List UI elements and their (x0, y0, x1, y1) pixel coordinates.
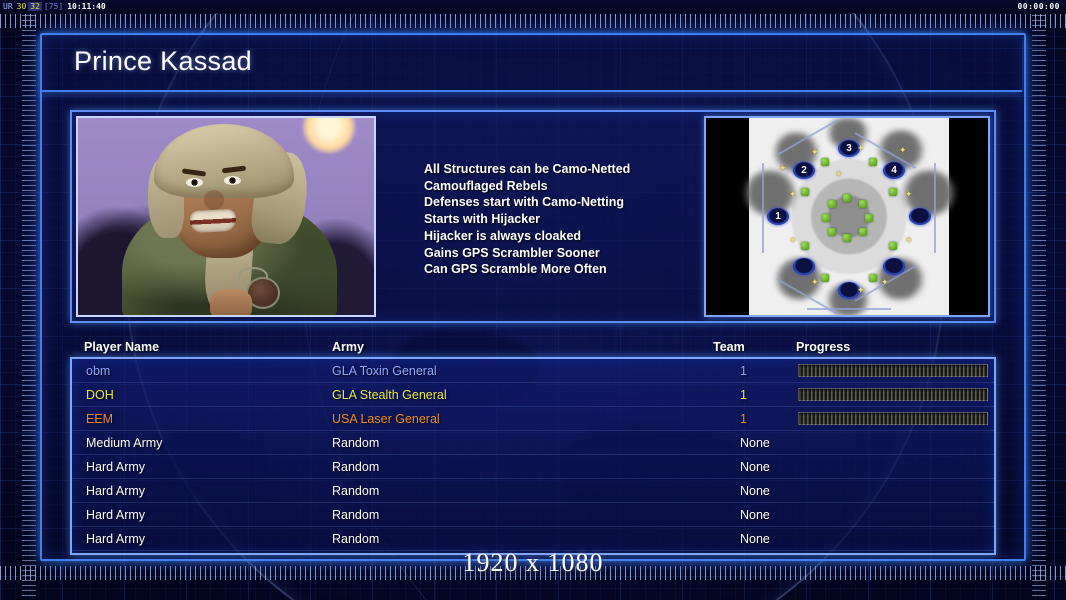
portrait-mouth (189, 209, 236, 233)
map-road (807, 308, 891, 310)
player-name: Hard Army (86, 455, 145, 479)
player-progress-bar (798, 388, 988, 401)
map-spawn-point-2[interactable]: 2 (793, 162, 815, 179)
bonus-item: Can GPS Scramble More Often (424, 261, 700, 278)
player-army[interactable]: Random (332, 431, 379, 455)
bonus-item: Gains GPS Scrambler Sooner (424, 245, 700, 262)
map-preview[interactable]: 1 2 3 4 ✦ ✦ ✦ ✦ (704, 116, 990, 317)
player-row[interactable]: DOHGLA Stealth General1 (72, 383, 994, 407)
map-supply (828, 228, 836, 236)
map-road (762, 163, 764, 253)
column-header-progress: Progress (796, 340, 850, 354)
map-spawn-point-8[interactable] (793, 258, 815, 275)
debug-prefix: UR (1, 2, 15, 11)
player-name: Hard Army (86, 503, 145, 527)
portrait-hand (210, 289, 252, 317)
bonus-item: Starts with Hijacker (424, 211, 700, 228)
player-army[interactable]: GLA Toxin General (332, 359, 437, 383)
player-team[interactable]: 1 (740, 383, 747, 407)
map-spawn-point-1[interactable]: 1 (767, 208, 789, 225)
player-progress-bar (798, 412, 988, 425)
player-team[interactable]: None (740, 455, 770, 479)
player-row[interactable]: Hard ArmyRandomNone (72, 503, 994, 527)
map-spawn-point-5[interactable] (909, 208, 931, 225)
column-header-army: Army (332, 340, 364, 354)
general-portrait (76, 116, 376, 317)
map-spawn-point-6[interactable] (883, 258, 905, 275)
player-team[interactable]: 1 (740, 359, 747, 383)
map-supply (843, 194, 851, 202)
column-header-player-name: Player Name (84, 340, 159, 354)
map-tech-building: ✦ (857, 286, 866, 295)
player-row[interactable]: Hard ArmyRandomNone (72, 479, 994, 503)
player-name: DOH (86, 383, 114, 407)
bonus-item: Defenses start with Camo-Netting (424, 194, 700, 211)
map-supply (869, 274, 877, 282)
player-army[interactable]: GLA Stealth General (332, 383, 447, 407)
map-image: 1 2 3 4 ✦ ✦ ✦ ✦ (749, 118, 949, 315)
map-tech-building: ✦ (779, 164, 788, 173)
debug-value-3: [75] (42, 2, 65, 11)
player-row[interactable]: Medium ArmyRandomNone (72, 431, 994, 455)
bonus-item: Hijacker is always cloaked (424, 228, 700, 245)
system-clock: 10:11:40 (65, 2, 108, 11)
player-row[interactable]: Hard ArmyRandomNone (72, 455, 994, 479)
map-supply (843, 234, 851, 242)
map-supply (821, 158, 829, 166)
player-progress-bar (798, 364, 988, 377)
map-tech-building: ✦ (835, 170, 844, 179)
debug-value-1: 30 (15, 2, 29, 11)
map-supply (801, 188, 809, 196)
game-timer: 00:00:00 (1017, 0, 1060, 13)
map-supply (889, 242, 897, 250)
player-team[interactable]: None (740, 431, 770, 455)
ruler-top (0, 14, 1066, 28)
map-supply (821, 274, 829, 282)
player-name: Hard Army (86, 479, 145, 503)
portrait-eye-right (224, 176, 241, 185)
map-supply (865, 214, 873, 222)
top-status-bar: UR3032[75]10:11:40 00:00:00 (0, 0, 1066, 13)
map-supply (822, 214, 830, 222)
player-army[interactable]: USA Laser General (332, 407, 440, 431)
debug-value-2: 32 (28, 2, 42, 11)
ruler-right (1032, 0, 1046, 600)
map-tech-building: ✦ (857, 144, 866, 153)
map-tech-building: ✦ (905, 190, 914, 199)
map-tech-building: ✦ (789, 190, 798, 199)
map-spawn-point-4[interactable]: 4 (883, 162, 905, 179)
map-tech-building: ✦ (811, 278, 820, 287)
player-row[interactable]: EEMUSA Laser General1 (72, 407, 994, 431)
player-name: Medium Army (86, 431, 162, 455)
debug-overlay: UR3032[75]10:11:40 (1, 0, 108, 13)
resolution-label: 1920 x 1080 (0, 548, 1066, 578)
bonus-item: Camouflaged Rebels (424, 178, 700, 195)
player-team[interactable]: 1 (740, 407, 747, 431)
map-tech-building: ✦ (789, 236, 798, 245)
map-supply (869, 158, 877, 166)
page-title: Prince Kassad (74, 46, 252, 77)
player-list-headers: Player Name Army Team Progress (70, 338, 996, 358)
portrait-eye-left (186, 178, 203, 187)
player-team[interactable]: None (740, 503, 770, 527)
map-tech-building: ✦ (899, 146, 908, 155)
map-supply (889, 188, 897, 196)
player-army[interactable]: Random (332, 479, 379, 503)
player-team[interactable]: None (740, 479, 770, 503)
game-lobby-screen: UR3032[75]10:11:40 00:00:00 Prince Kassa… (0, 0, 1066, 600)
map-supply (859, 200, 867, 208)
bonus-item: All Structures can be Camo-Netted (424, 161, 700, 178)
player-rows-container: obmGLA Toxin General1DOHGLA Stealth Gene… (72, 359, 994, 553)
ruler-left (22, 0, 36, 600)
map-tech-building: ✦ (811, 148, 820, 157)
player-name: obm (86, 359, 110, 383)
player-name: EEM (86, 407, 113, 431)
general-bonus-list: All Structures can be Camo-Netted Camouf… (424, 161, 700, 278)
player-row[interactable]: obmGLA Toxin General1 (72, 359, 994, 383)
map-supply (828, 200, 836, 208)
map-supply (859, 228, 867, 236)
portrait-nose (204, 190, 224, 210)
map-road (934, 163, 936, 253)
map-tech-building: ✦ (905, 236, 914, 245)
map-supply (801, 242, 809, 250)
player-army[interactable]: Random (332, 503, 379, 527)
map-tech-building: ✦ (881, 278, 890, 287)
player-army[interactable]: Random (332, 455, 379, 479)
column-header-team: Team (713, 340, 745, 354)
